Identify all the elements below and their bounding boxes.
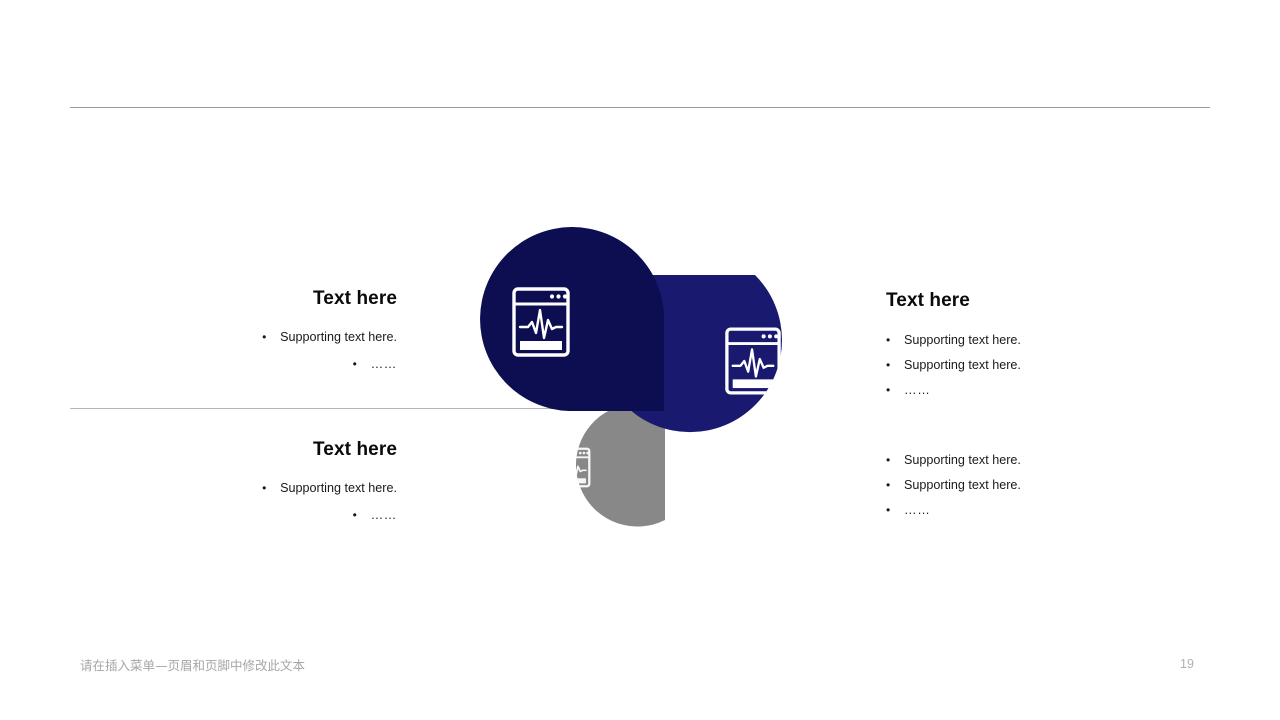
bullet-marker: • — [886, 454, 904, 466]
bullet-text: Supporting text here. — [904, 334, 1021, 347]
bullet-text: Supporting text here. — [280, 482, 397, 495]
divider-top — [70, 107, 1210, 108]
bullet-list-left-top: • Supporting text here. • …… — [150, 331, 397, 371]
bullet-text: Supporting text here. — [904, 479, 1021, 492]
icon-holder-dark-navy — [511, 286, 571, 358]
bullet-marker: • — [353, 509, 371, 521]
list-item: • Supporting text here. — [886, 479, 1186, 492]
slide-canvas: Text here • Supporting text here. • …… — [0, 0, 1280, 720]
bullet-text: …… — [904, 384, 930, 397]
list-item: • Supporting text here. — [150, 482, 397, 495]
bullet-list-right-bottom: • Supporting text here. • Supporting tex… — [886, 454, 1186, 518]
heading-left-top: Text here — [150, 289, 397, 310]
text-block-right-top: Text here • Supporting text here. • Supp… — [886, 291, 1186, 398]
bullet-marker: • — [262, 482, 280, 494]
bullet-marker: • — [886, 384, 904, 396]
bullet-marker: • — [886, 359, 904, 371]
text-block-left-bottom: Text here • Supporting text here. • …… — [150, 440, 397, 522]
list-item: • Supporting text here. — [886, 334, 1186, 347]
text-block-left-top: Text here • Supporting text here. • …… — [150, 289, 397, 371]
bullet-text: …… — [371, 509, 397, 522]
monitor-pulse-icon — [724, 326, 782, 396]
list-item: • …… — [150, 358, 397, 371]
bullet-marker: • — [886, 504, 904, 516]
icon-holder-navy — [724, 326, 782, 396]
list-item: • …… — [150, 509, 397, 522]
monitor-pulse-icon — [511, 286, 571, 358]
shape-dark-navy — [480, 227, 664, 411]
bullet-list-right-top: • Supporting text here. • Supporting tex… — [886, 334, 1186, 398]
bullet-text: …… — [904, 504, 930, 517]
list-item: • Supporting text here. — [886, 359, 1186, 372]
list-item: • Supporting text here. — [150, 331, 397, 344]
bullet-text: Supporting text here. — [904, 359, 1021, 372]
heading-right-top: Text here — [886, 291, 1186, 312]
list-item: • Supporting text here. — [886, 454, 1186, 467]
bullet-list-left-bottom: • Supporting text here. • …… — [150, 482, 397, 522]
bullet-text: Supporting text here. — [280, 331, 397, 344]
page-number: 19 — [1180, 657, 1194, 671]
bullet-text: Supporting text here. — [904, 454, 1021, 467]
bullet-marker: • — [886, 479, 904, 491]
bullet-marker: • — [886, 334, 904, 346]
shape-group — [440, 215, 870, 545]
list-item: • …… — [886, 384, 1186, 397]
list-item: • …… — [886, 504, 1186, 517]
monitor-pulse-icon — [557, 447, 591, 488]
heading-left-bottom: Text here — [150, 440, 397, 461]
text-block-right-bottom: • Supporting text here. • Supporting tex… — [886, 454, 1186, 518]
bullet-marker: • — [262, 331, 280, 343]
icon-holder-gray — [557, 447, 591, 488]
bullet-marker: • — [353, 358, 371, 370]
footer-text: 请在插入菜单—页眉和页脚中修改此文本 — [80, 655, 305, 674]
bullet-text: …… — [371, 358, 397, 371]
